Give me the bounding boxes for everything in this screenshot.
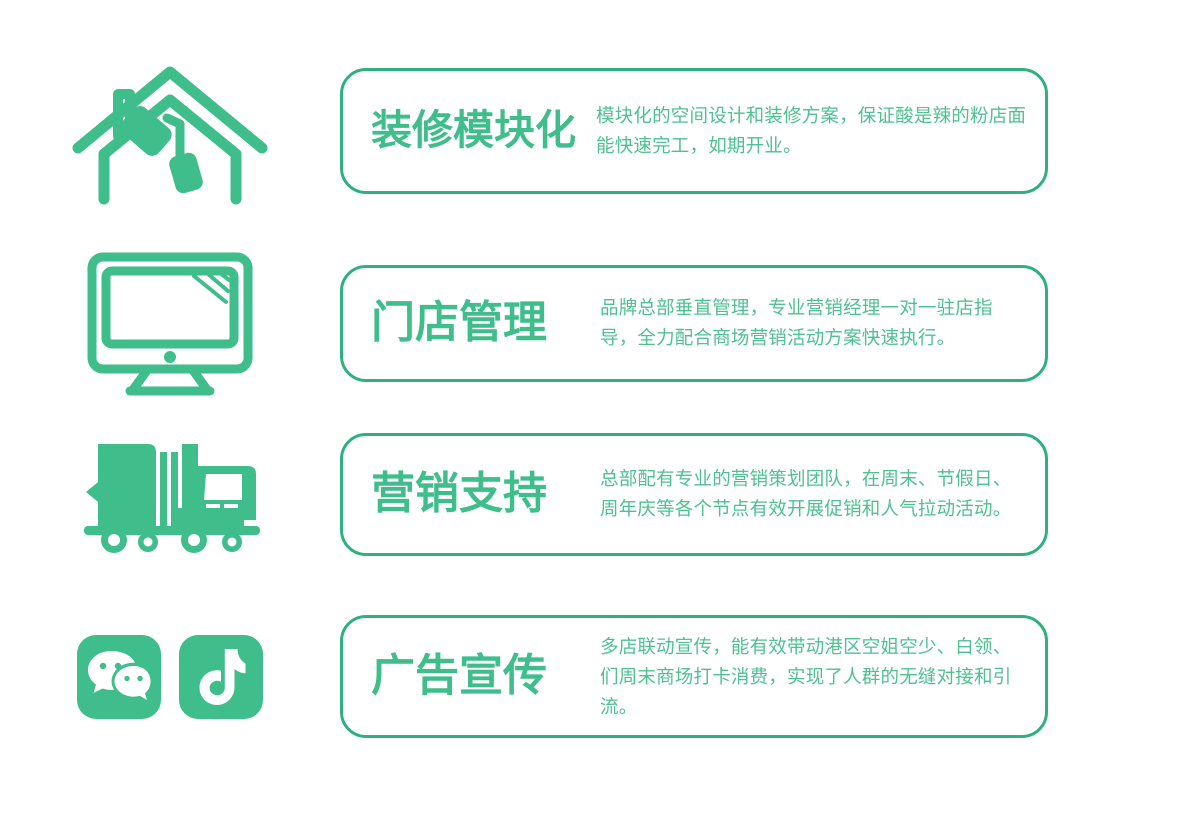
- delivery-truck-icon: [0, 430, 340, 558]
- desktop-monitor-icon: [0, 247, 340, 399]
- house-paint-roller-icon: [0, 56, 340, 206]
- feature-list-board: 装修模块化 模块化的空间设计和装修方案，保证酸是辣的粉店面能快速完工，如期开业。: [0, 0, 1200, 815]
- feature-title: 装修模块化: [371, 109, 596, 152]
- feature-card[interactable]: 门店管理 品牌总部垂直管理，专业营销经理一对一驻店指导，全力配合商场营销活动方案…: [340, 265, 1048, 382]
- feature-title: 广告宣传: [371, 653, 596, 700]
- wechat-and-douyin-icons: [0, 635, 340, 719]
- feature-row: 营销支持 总部配有专业的营销策划团队，在周末、节假日、周年庆等各个节点有效开展促…: [0, 430, 1200, 558]
- feature-title: 门店管理: [371, 300, 596, 347]
- feature-card[interactable]: 装修模块化 模块化的空间设计和装修方案，保证酸是辣的粉店面能快速完工，如期开业。: [340, 68, 1048, 194]
- douyin-icon[interactable]: [179, 635, 263, 719]
- feature-description: 模块化的空间设计和装修方案，保证酸是辣的粉店面能快速完工，如期开业。: [596, 101, 1031, 161]
- wechat-icon[interactable]: [77, 635, 161, 719]
- feature-description: 多店联动宣传，能有效带动港区空姐空少、白领、们周末商场打卡消费，实现了人群的无缝…: [596, 632, 1031, 722]
- feature-row: 广告宣传 多店联动宣传，能有效带动港区空姐空少、白领、们周末商场打卡消费，实现了…: [0, 615, 1200, 738]
- feature-title: 营销支持: [371, 471, 596, 518]
- feature-card[interactable]: 广告宣传 多店联动宣传，能有效带动港区空姐空少、白领、们周末商场打卡消费，实现了…: [340, 615, 1048, 738]
- feature-row: 装修模块化 模块化的空间设计和装修方案，保证酸是辣的粉店面能快速完工，如期开业。: [0, 56, 1200, 206]
- feature-row: 门店管理 品牌总部垂直管理，专业营销经理一对一驻店指导，全力配合商场营销活动方案…: [0, 247, 1200, 399]
- feature-card[interactable]: 营销支持 总部配有专业的营销策划团队，在周末、节假日、周年庆等各个节点有效开展促…: [340, 433, 1048, 556]
- feature-description: 总部配有专业的营销策划团队，在周末、节假日、周年庆等各个节点有效开展促销和人气拉…: [596, 464, 1031, 524]
- feature-description: 品牌总部垂直管理，专业营销经理一对一驻店指导，全力配合商场营销活动方案快速执行。: [596, 293, 1031, 353]
- power-dot: [164, 351, 176, 363]
